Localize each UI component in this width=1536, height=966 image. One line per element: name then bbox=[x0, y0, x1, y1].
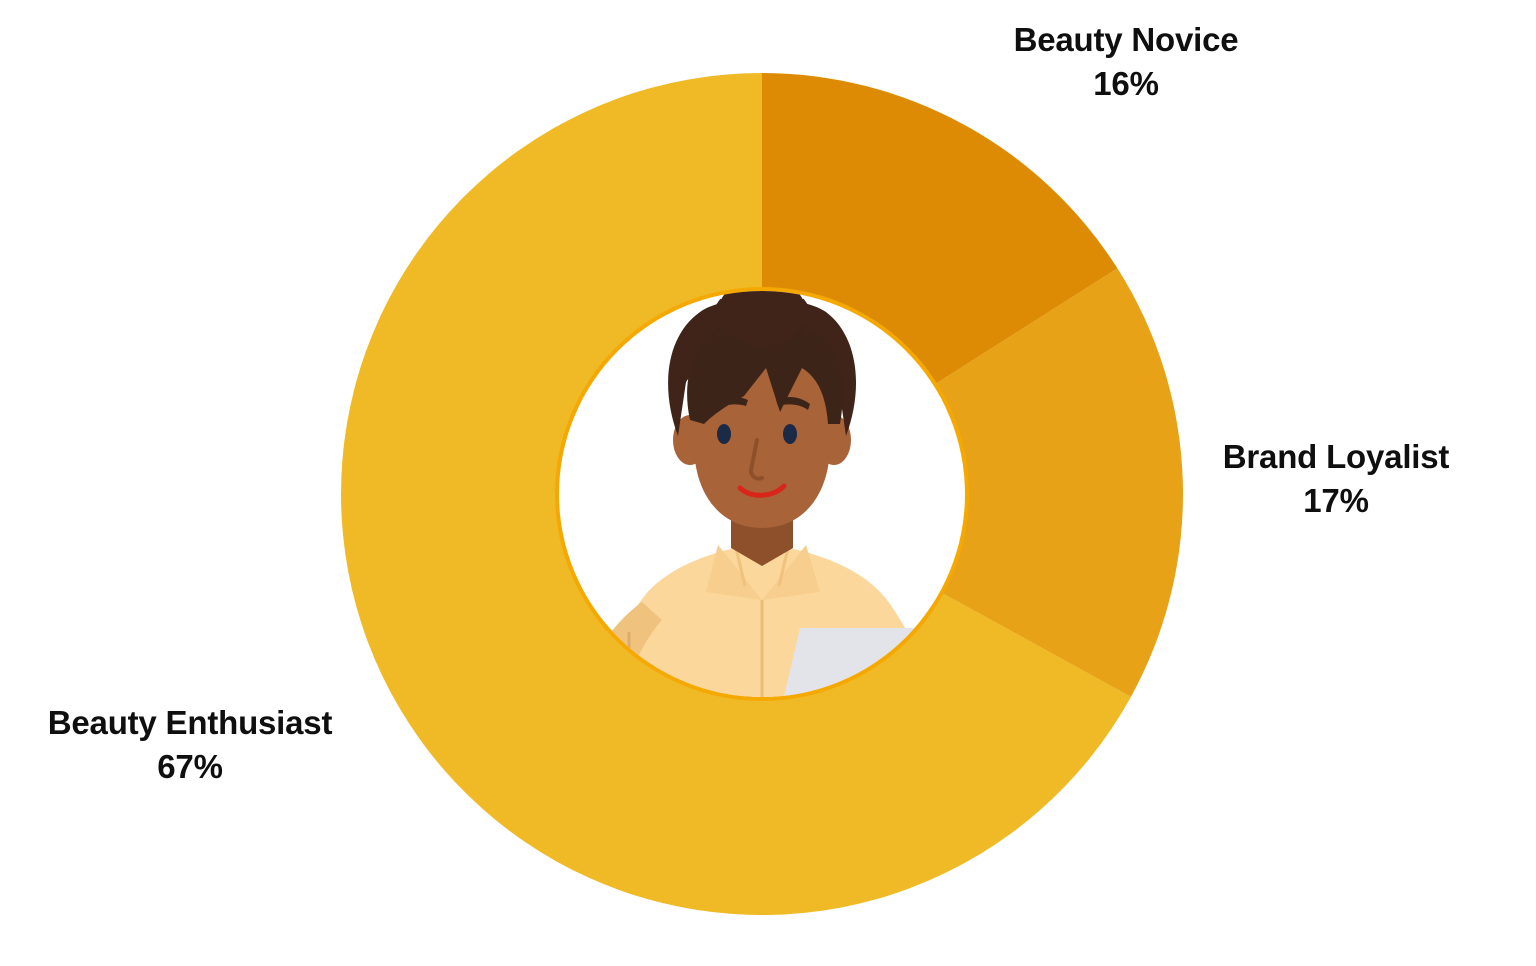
slice-label-beauty-enthusiast: Beauty Enthusiast 67% bbox=[0, 703, 390, 788]
avatar-eye-right bbox=[783, 424, 797, 444]
slice-label-brand-loyalist-name: Brand Loyalist bbox=[1136, 437, 1536, 477]
slice-label-beauty-enthusiast-percent: 67% bbox=[0, 747, 390, 787]
slice-label-beauty-novice: Beauty Novice 16% bbox=[876, 20, 1376, 105]
slice-label-beauty-enthusiast-name: Beauty Enthusiast bbox=[0, 703, 390, 743]
slice-label-beauty-novice-percent: 16% bbox=[876, 64, 1376, 104]
donut-chart: Beauty Novice 16% Brand Loyalist 17% Bea… bbox=[0, 0, 1536, 966]
slice-label-brand-loyalist-percent: 17% bbox=[1136, 481, 1536, 521]
avatar-eye-left bbox=[717, 424, 731, 444]
slice-label-brand-loyalist: Brand Loyalist 17% bbox=[1136, 437, 1536, 522]
slice-label-beauty-novice-name: Beauty Novice bbox=[876, 20, 1376, 60]
